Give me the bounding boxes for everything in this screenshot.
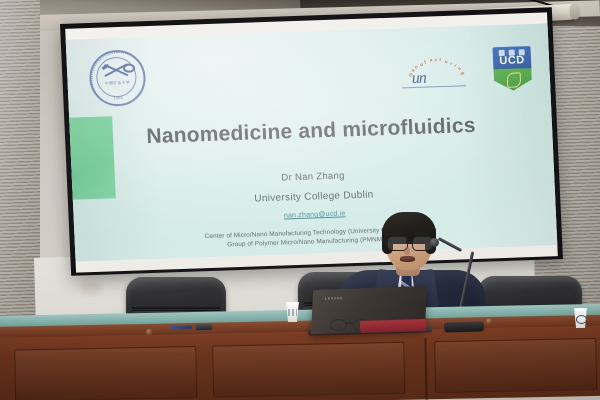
desk-eyeglass-bridge: [345, 322, 353, 324]
microphone-head-icon: [430, 238, 439, 247]
paper-cup-right-rim: [573, 308, 588, 311]
university-seal-logo: 中国矿业大学 1909: [88, 49, 146, 107]
wall-smudge: [80, 282, 102, 294]
photo-scene: 中国矿业大学 1909 manufacturing un UCD: [0, 0, 600, 400]
desk-knob-1: [146, 329, 153, 336]
manufacturing-un-logo: manufacturing un: [397, 54, 477, 93]
chair-left-seam: [132, 307, 220, 309]
roller-end-cap: [569, 3, 580, 20]
presenter-mouth: [400, 256, 415, 262]
slide-title: Nanomedicine and microfluidics: [70, 111, 553, 151]
desk-panel-2: [212, 342, 405, 398]
microphone-base: [444, 321, 484, 332]
presenter-nose: [404, 247, 410, 255]
desk-front-panel: [0, 326, 600, 400]
paper-cup-right-logo-icon: [576, 315, 587, 324]
ucd-logo-top-shield: UCD: [492, 46, 531, 70]
paper-cup-left-rim: [285, 302, 300, 305]
paper-cup-left-print: [288, 309, 297, 316]
red-folder: [360, 319, 426, 333]
desk-panel-3: [434, 338, 597, 393]
eyeglass-bridge: [406, 241, 412, 243]
pen: [170, 326, 192, 330]
manufacturing-arc-text: manufacturing: [397, 54, 476, 83]
ucd-logo: UCD: [492, 46, 532, 91]
smartphone: [196, 324, 212, 330]
desk-eyeglass-lens-left: [330, 319, 347, 331]
laptop-brand-label: Lenovo: [325, 295, 344, 301]
ucd-logo-text: UCD: [493, 55, 531, 67]
desk-panel-1: [14, 346, 197, 400]
un-script-mark: un: [411, 70, 426, 88]
